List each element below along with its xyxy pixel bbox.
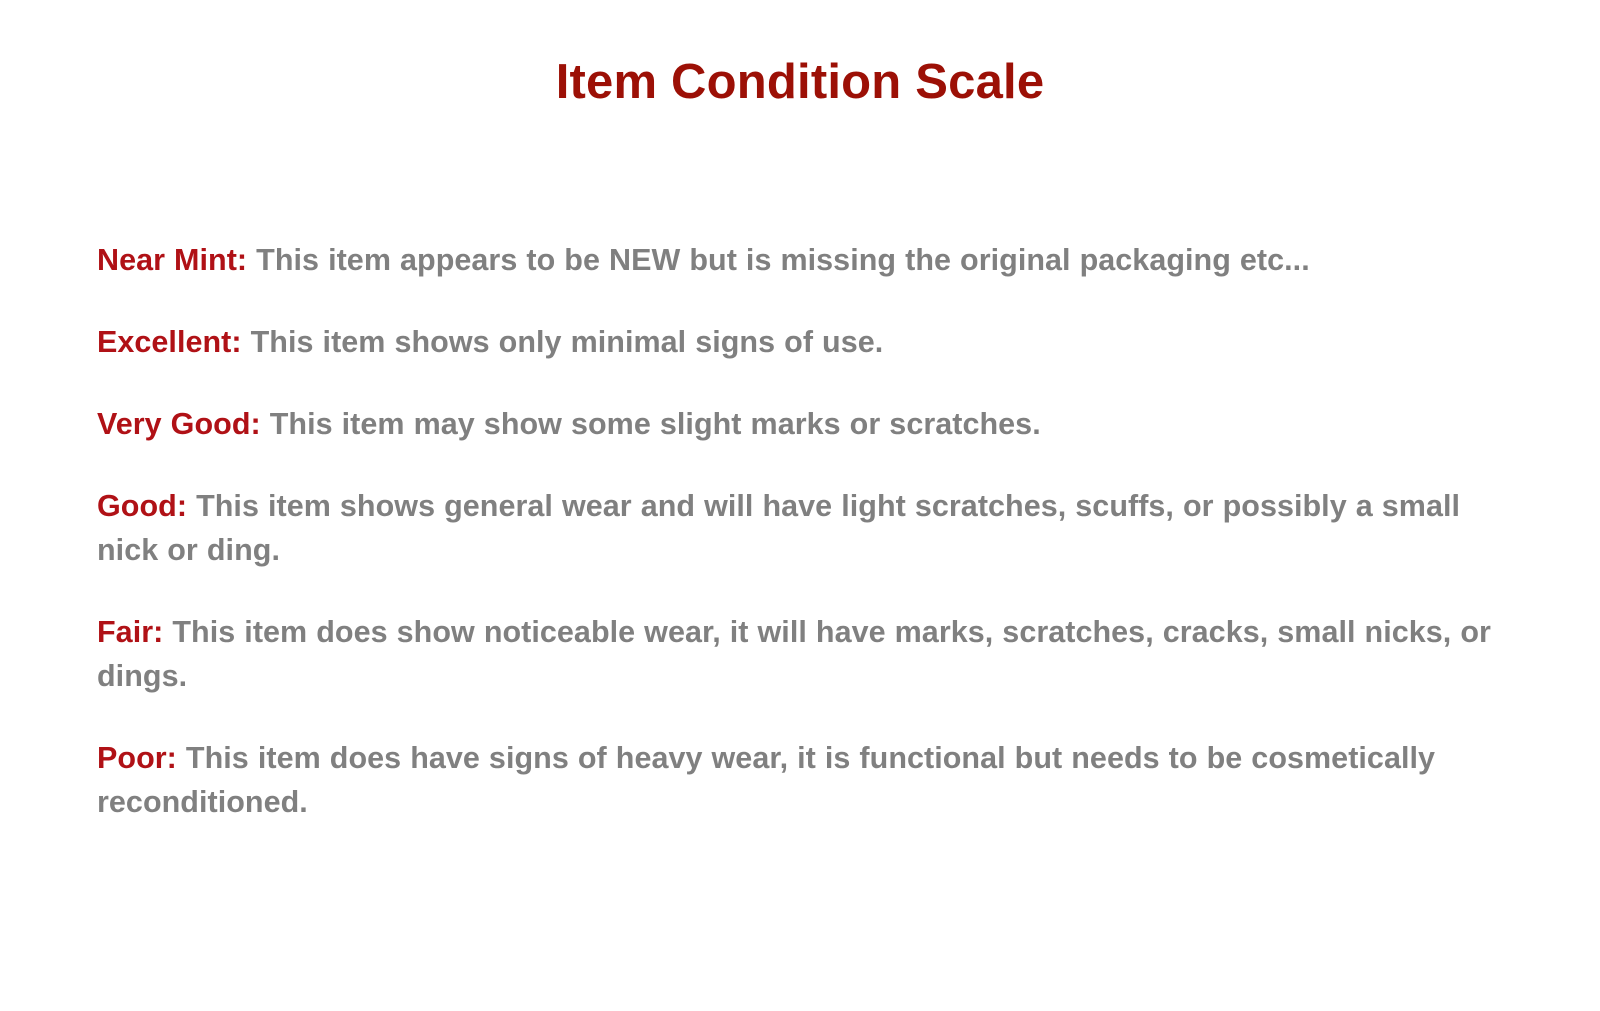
condition-description-fair: This item does show noticeable wear, it … bbox=[97, 615, 1491, 693]
condition-description-near-mint: This item appears to be NEW but is missi… bbox=[256, 243, 1310, 277]
condition-label-fair: Fair: bbox=[97, 615, 163, 649]
condition-label-good: Good: bbox=[97, 489, 187, 523]
condition-description-poor: This item does have signs of heavy wear,… bbox=[97, 741, 1435, 819]
condition-description-excellent: This item shows only minimal signs of us… bbox=[251, 325, 884, 359]
condition-label-excellent: Excellent: bbox=[97, 325, 242, 359]
slide-canvas: Item Condition Scale Near Mint: This ite… bbox=[0, 0, 1600, 1011]
list-item: Good: This item shows general wear and w… bbox=[97, 484, 1507, 572]
condition-label-poor: Poor: bbox=[97, 741, 177, 775]
list-item: Near Mint: This item appears to be NEW b… bbox=[97, 238, 1507, 282]
list-item: Excellent: This item shows only minimal … bbox=[97, 320, 1507, 364]
condition-label-near-mint: Near Mint: bbox=[97, 243, 247, 277]
condition-label-very-good: Very Good: bbox=[97, 407, 261, 441]
condition-list: Near Mint: This item appears to be NEW b… bbox=[97, 238, 1507, 824]
condition-description-very-good: This item may show some slight marks or … bbox=[270, 407, 1041, 441]
list-item: Very Good: This item may show some sligh… bbox=[97, 402, 1507, 446]
list-item: Poor: This item does have signs of heavy… bbox=[97, 736, 1507, 824]
page-title: Item Condition Scale bbox=[0, 56, 1600, 110]
list-item: Fair: This item does show noticeable wea… bbox=[97, 610, 1507, 698]
condition-description-good: This item shows general wear and will ha… bbox=[97, 489, 1460, 567]
